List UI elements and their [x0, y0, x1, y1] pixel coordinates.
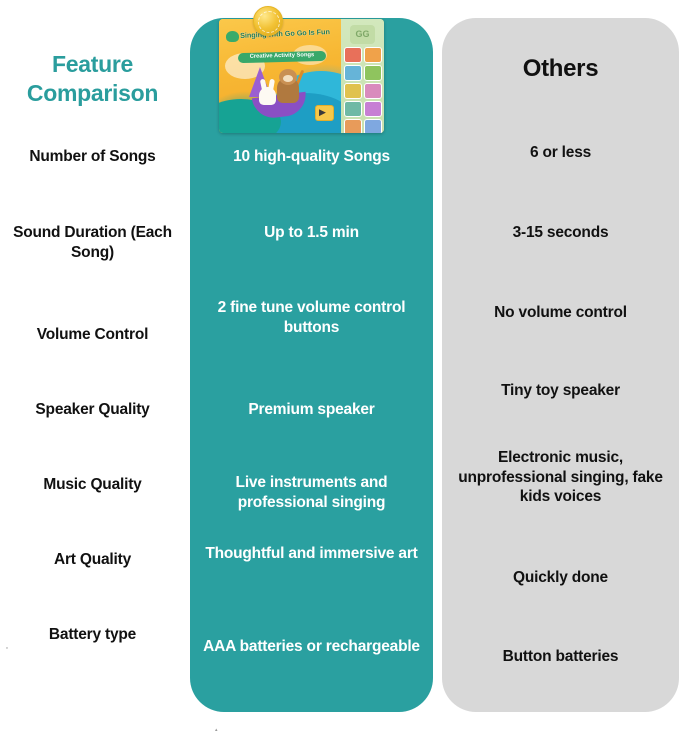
cell-product-battery-type: AAA batteries or rechargeable [196, 637, 427, 657]
song-book-product-photo: Singing with Go Go Is Fun Creative Activ… [219, 6, 384, 133]
sound-button [344, 47, 362, 63]
feature-comparison-table: Feature Comparison Number of Songs Sound… [0, 0, 679, 735]
sound-button-grid [344, 47, 381, 133]
cell-others-number-of-songs: 6 or less [448, 143, 673, 163]
gold-award-medallion-icon [253, 6, 283, 36]
others-column-title: Others [442, 55, 679, 83]
feature-label-music-quality: Music Quality [0, 475, 185, 495]
sound-button [364, 83, 382, 99]
cell-product-art-quality: Thoughtful and immersive art [196, 544, 427, 564]
bunny-character-icon [259, 87, 276, 105]
book-cover-title: Singing with Go Go Is Fun [233, 28, 337, 41]
cell-others-speaker-quality: Tiny toy speaker [448, 381, 673, 401]
cell-product-music-quality: Live instruments and professional singin… [196, 473, 427, 512]
sound-button [364, 65, 382, 81]
page-title: Feature Comparison [0, 50, 185, 109]
panel-logo-icon: GG [350, 25, 375, 44]
sound-button [364, 101, 382, 117]
sound-button [344, 83, 362, 99]
cell-others-battery-type: Button batteries [448, 647, 673, 667]
bottom-mark: ▴ [215, 727, 218, 733]
cell-product-sound-duration: Up to 1.5 min [196, 223, 427, 243]
sound-button [344, 119, 362, 133]
cell-others-music-quality: Electronic music, unprofessional singing… [448, 448, 673, 507]
cell-product-speaker-quality: Premium speaker [196, 400, 427, 420]
cell-product-volume-control: 2 fine tune volume control buttons [196, 298, 427, 337]
sound-button-panel: GG [341, 19, 384, 133]
sound-button [364, 119, 382, 133]
cell-product-number-of-songs: 10 high-quality Songs [196, 147, 427, 167]
corner-mark: v [6, 645, 8, 650]
cell-others-art-quality: Quickly done [448, 568, 673, 588]
book-body: Singing with Go Go Is Fun Creative Activ… [219, 19, 384, 133]
cell-others-volume-control: No volume control [448, 303, 673, 323]
sound-button [344, 101, 362, 117]
feature-label-speaker-quality: Speaker Quality [0, 400, 185, 420]
feature-label-battery-type: Battery type [0, 625, 185, 645]
sound-button [364, 47, 382, 63]
award-inner-ring [258, 11, 280, 33]
speaker-icon: ▶ [319, 108, 326, 117]
cell-others-sound-duration: 3-15 seconds [448, 223, 673, 243]
feature-label-number-of-songs: Number of Songs [0, 147, 185, 167]
feature-label-column: Feature Comparison Number of Songs Sound… [0, 0, 190, 735]
monkey-face-icon [283, 75, 293, 82]
others-column-panel [442, 18, 679, 712]
feature-label-sound-duration: Sound Duration (Each Song) [0, 223, 185, 263]
book-cover-art: Singing with Go Go Is Fun Creative Activ… [219, 19, 341, 133]
sound-button [344, 65, 362, 81]
feature-label-art-quality: Art Quality [0, 550, 185, 570]
feature-label-volume-control: Volume Control [0, 325, 185, 345]
